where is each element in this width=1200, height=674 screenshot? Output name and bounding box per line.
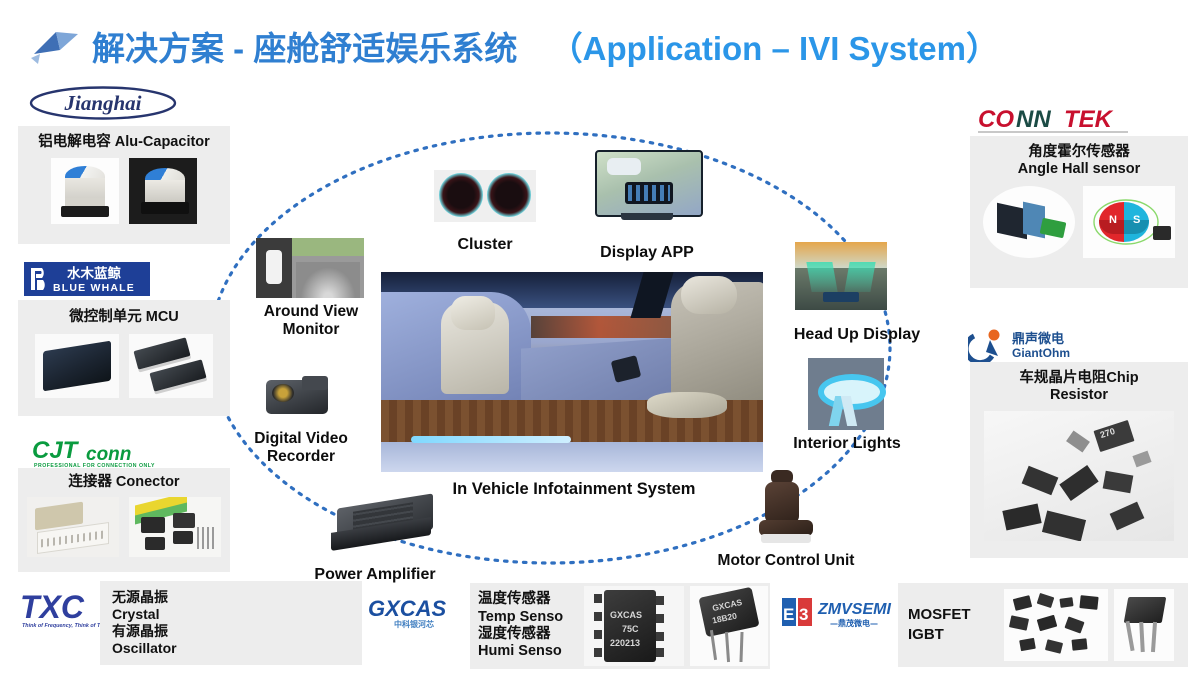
label-in-vehicle-infotainment-system: In Vehicle Infotainment System (406, 480, 742, 499)
txc-line-1: 无源晶振 (112, 589, 192, 606)
jianghai-logo-icon: Jianghai (28, 86, 178, 120)
alu-capacitor-image-2 (129, 158, 197, 224)
svg-text:GXCAS: GXCAS (368, 596, 447, 621)
svg-text:TXC: TXC (20, 589, 85, 625)
page-title-bar: 解决方案 - 座舱舒适娱乐系统 （Application – IVI Syste… (0, 16, 1200, 76)
connector-image-2 (129, 497, 221, 557)
gxcas-line-1: 温度传感器 (478, 591, 584, 608)
gxcas-chip-mark-1: GXCAS (610, 610, 642, 620)
page-title: 解决方案 - 座舱舒适娱乐系统 （Application – IVI Syste… (92, 22, 999, 70)
gxcas-chip-mark-2: 75C (622, 624, 639, 634)
cluster-gauges-image (434, 170, 536, 222)
page-title-cn: 解决方案 - 座舱舒适娱乐系统 (92, 30, 517, 67)
gxcas-chip-mark-3: 220213 (610, 638, 640, 648)
panel-connector-title: 连接器 Conector (18, 468, 230, 491)
blue-whale-logo-icon: 水木蓝鲸 BLUE WHALE (24, 262, 150, 296)
panel-mosfet-igbt: MOSFET IGBT (898, 583, 1188, 667)
gxcas-line-4: Humi Senso (478, 643, 584, 660)
hall-motor-image (983, 186, 1075, 258)
svg-text:鼎声微电: 鼎声微电 (1012, 331, 1064, 347)
head-up-display-image (795, 242, 887, 310)
gxcas-to92-chip-image: GXCAS 18B20 (690, 586, 768, 666)
panel-txc-crystal: 无源晶振 Crystal 有源晶振 Oscillator (100, 581, 362, 665)
mcu-chip-image-2 (129, 334, 213, 398)
svg-text:conn: conn (86, 444, 131, 465)
mosfet-pack-group-image (1004, 589, 1108, 661)
page-title-en: （Application – IVI System） (550, 30, 999, 67)
cjtconn-logo-icon: CJT conn PROFESSIONAL FOR CONNECTION ONL… (30, 436, 178, 470)
alu-capacitor-image-1 (51, 158, 119, 224)
connector-image-1 (27, 497, 119, 557)
svg-text:BLUE WHALE: BLUE WHALE (53, 282, 135, 294)
svg-text:TEK: TEK (1064, 106, 1114, 133)
hall-magnet-image: N S (1083, 186, 1175, 258)
txc-line-2: Crystal (112, 606, 192, 623)
panel-gxcas-sensors: 温度传感器 Temp Senso 湿度传感器 Humi Senso GXCAS … (470, 583, 770, 669)
power-amplifier-image (327, 495, 439, 557)
label-power-amplifier: Power Amplifier (308, 566, 442, 584)
panel-gxcas-lines: 温度传感器 Temp Senso 湿度传感器 Humi Senso (470, 591, 584, 661)
label-display-app: Display APP (586, 244, 708, 262)
interior-light-image (808, 358, 884, 430)
slide-canvas: 解决方案 - 座舱舒适娱乐系统 （Application – IVI Syste… (0, 0, 1200, 674)
label-interior-lights: Interior Lights (790, 435, 904, 453)
panel-alu-capacitor: 铝电解电容 Alu-Capacitor (18, 126, 230, 244)
panel-mcu: 微控制单元 MCU (18, 300, 230, 416)
conntek-logo-icon: CO NN TEK (978, 104, 1128, 136)
digital-video-recorder-image (258, 372, 338, 424)
svg-text:Think of Frequency, Think of T: Think of Frequency, Think of TXC (22, 623, 108, 629)
svg-text:CO: CO (978, 106, 1014, 133)
gxcas-soic-chip-image: GXCAS 75C 220213 (584, 586, 684, 666)
car-seat-image (745, 468, 827, 550)
txc-line-3: 有源晶振 (112, 623, 192, 640)
panel-mosfet-lines: MOSFET IGBT (898, 605, 1004, 646)
panel-txc-lines: 无源晶振 Crystal 有源晶振 Oscillator (100, 589, 192, 656)
panel-angle-hall-title-en: Angle Hall sensor (970, 161, 1188, 178)
txc-line-4: Oscillator (112, 640, 192, 657)
around-view-monitor-image (256, 238, 364, 298)
label-cluster: Cluster (430, 236, 540, 254)
mcu-chip-image-1 (35, 334, 119, 398)
brand-conntek: CO NN TEK (978, 104, 1128, 136)
brand-cjtconn: CJT conn PROFESSIONAL FOR CONNECTION ONL… (30, 436, 178, 470)
svg-text:水木蓝鲸: 水木蓝鲸 (67, 265, 121, 282)
triangle-arrow-logo-icon (26, 24, 82, 68)
panel-alu-capacitor-title: 铝电解电容 Alu-Capacitor (18, 126, 230, 151)
label-motor-control-unit: Motor Control Unit (716, 552, 856, 570)
chip-resistors-image: 270 (984, 411, 1174, 541)
panel-mcu-title: 微控制单元 MCU (18, 300, 230, 326)
display-app-screen-image (595, 150, 699, 223)
mosfet-line-2: IGBT (908, 625, 1004, 645)
label-around-view-monitor: Around View Monitor (246, 303, 376, 339)
svg-text:E: E (783, 605, 794, 624)
panel-chip-resistor-title-cn: 车规晶片电阻Chip (970, 362, 1188, 387)
brand-blue-whale: 水木蓝鲸 BLUE WHALE (24, 262, 150, 296)
gxcas-logo-icon: GXCAS 中科银河芯 (368, 594, 484, 634)
svg-text:GiantOhm: GiantOhm (1012, 346, 1070, 360)
igbt-to247-image (1114, 589, 1174, 661)
svg-text:—鼎茂微电—: —鼎茂微电— (830, 618, 878, 628)
label-digital-video-recorder: Digital Video Recorder (240, 430, 362, 466)
giantohm-logo-icon: 鼎声微电 GiantOhm (968, 326, 1093, 364)
brand-gxcas: GXCAS 中科银河芯 (368, 594, 484, 634)
svg-text:Jianghai: Jianghai (63, 91, 141, 115)
svg-text:中科银河芯: 中科银河芯 (394, 619, 434, 629)
zmvsemi-logo-icon: E 3 ZMVSEMI —鼎茂微电— (782, 596, 908, 632)
svg-text:3: 3 (799, 605, 808, 624)
brand-zmvsemi: E 3 ZMVSEMI —鼎茂微电— (782, 596, 908, 632)
panel-connector: 连接器 Conector (18, 468, 230, 572)
mosfet-line-1: MOSFET (908, 605, 1004, 625)
svg-text:ZMVSEMI: ZMVSEMI (817, 601, 891, 618)
gxcas-line-2: Temp Senso (478, 609, 584, 626)
panel-chip-resistor: 车规晶片电阻Chip Resistor 270 (970, 362, 1188, 558)
gxcas-line-3: 湿度传感器 (478, 626, 584, 643)
svg-text:CJT: CJT (32, 437, 80, 464)
brand-jianghai: Jianghai (28, 86, 178, 120)
panel-angle-hall-title-cn: 角度霍尔传感器 (970, 136, 1188, 161)
car-cabin-interior-image (381, 272, 763, 472)
brand-giantohm: 鼎声微电 GiantOhm (968, 326, 1093, 364)
panel-chip-resistor-title-en: Resistor (970, 387, 1188, 404)
svg-text:NN: NN (1016, 106, 1051, 133)
panel-angle-hall-sensor: 角度霍尔传感器 Angle Hall sensor N S (970, 136, 1188, 288)
label-head-up-display: Head Up Display (790, 326, 924, 344)
